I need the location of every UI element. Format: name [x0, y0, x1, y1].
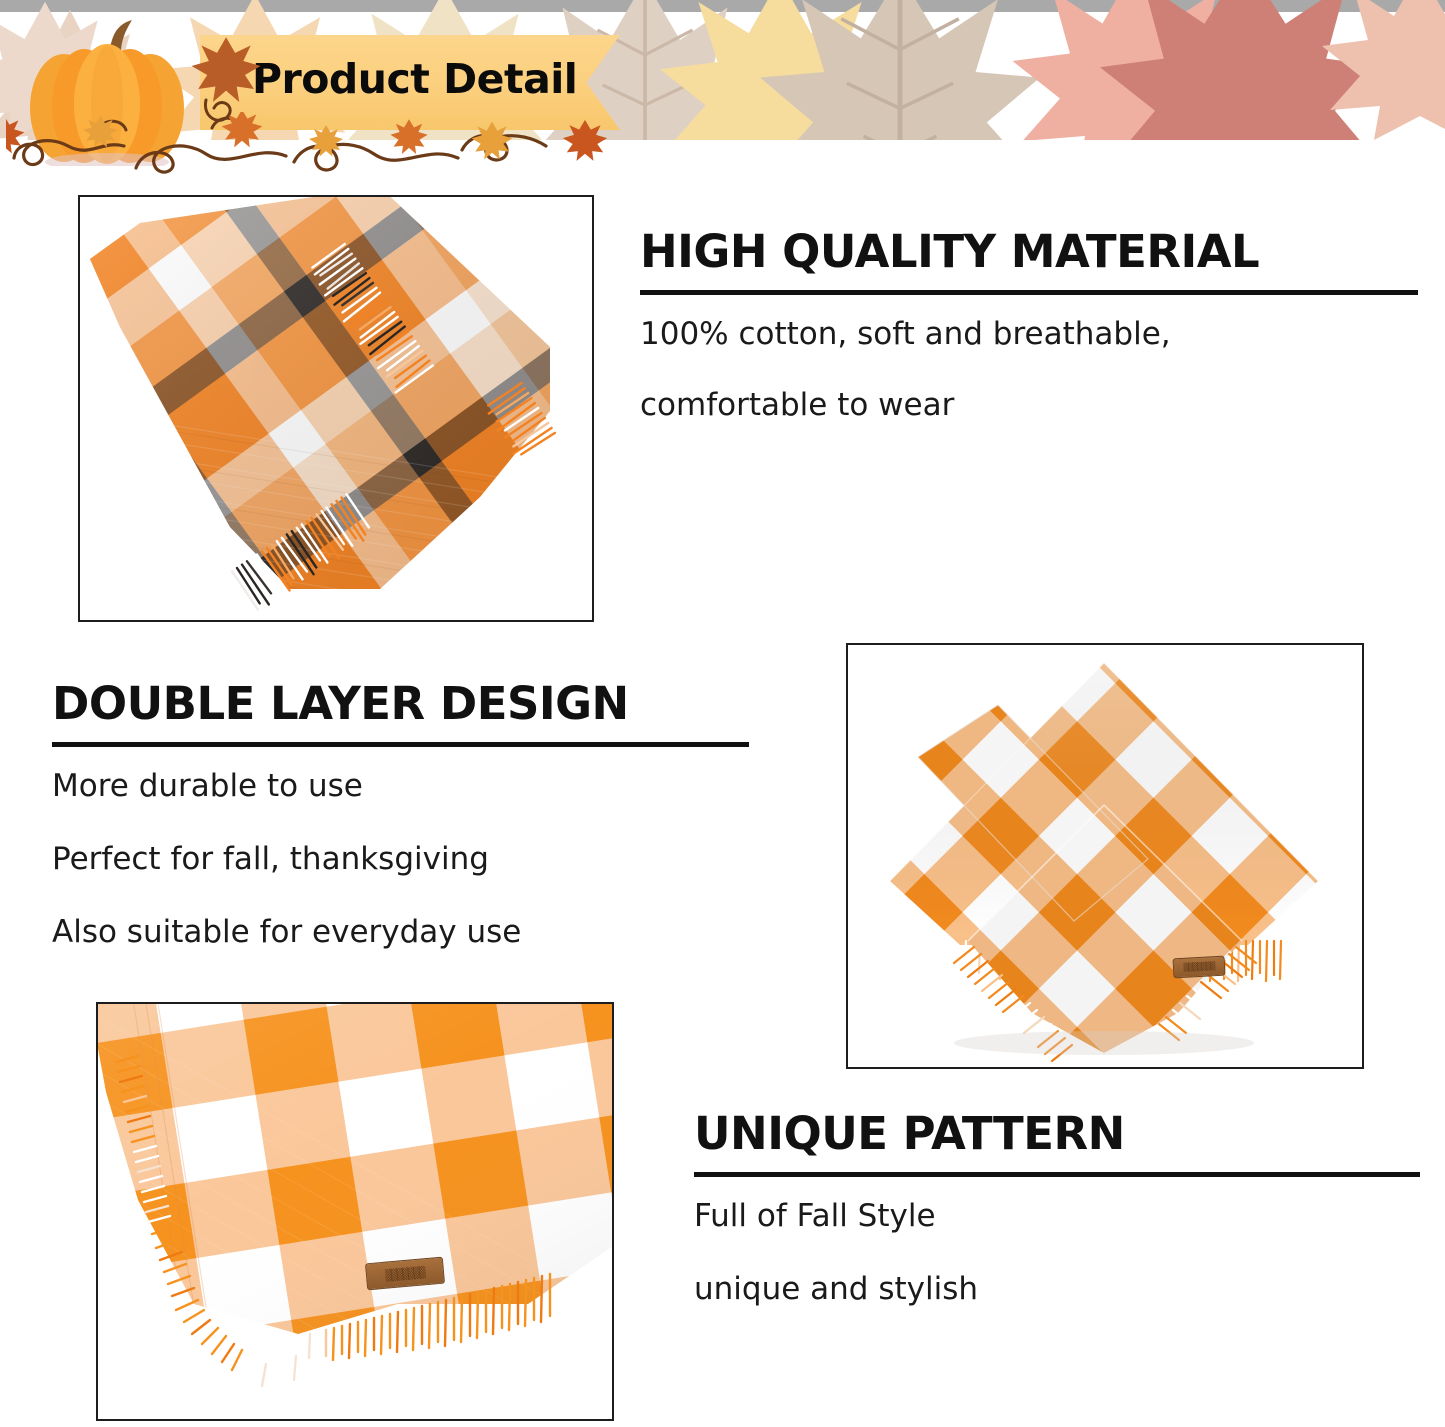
feature-line: More durable to use [52, 771, 752, 802]
photo-image [98, 1004, 612, 1419]
feature-title-double-layer: DOUBLE LAYER DESIGN [52, 680, 752, 728]
feature-line: Perfect for fall, thanksgiving [52, 844, 752, 875]
feature-line: unique and stylish [694, 1274, 1422, 1305]
feature-divider [694, 1172, 1420, 1177]
feature-title-unique-pattern: UNIQUE PATTERN [694, 1110, 1422, 1158]
feature-line: Also suitable for everyday use [52, 917, 752, 948]
feature-lines-unique-pattern: Full of Fall Style unique and stylish [694, 1201, 1422, 1305]
feature-line: 100% cotton, soft and breathable, [640, 319, 1422, 350]
feature-divider [52, 742, 749, 747]
feature-divider [640, 290, 1418, 295]
feature-lines-double-layer: More durable to use Perfect for fall, th… [52, 771, 752, 948]
vine-swirl-icon [186, 30, 316, 140]
maple-leaf-icon [1320, 0, 1445, 160]
feature-title-material: HIGH QUALITY MATERIAL [640, 228, 1422, 276]
plaid-fringe-closeup-photo [78, 195, 594, 622]
vine-swirl-icon [6, 112, 626, 184]
feature-lines-material: 100% cotton, soft and breathable, comfor… [640, 319, 1422, 421]
flat-plaid-corner-photo: ▒▒▒▒▒▒▒ [96, 1002, 614, 1421]
leather-brand-label-text: ▒▒▒▒▒▒▒ [367, 1264, 444, 1284]
leather-brand-label: ▒▒▒▒▒▒▒ [1173, 956, 1226, 979]
photo-image [848, 645, 1362, 1067]
feature-line: Full of Fall Style [694, 1201, 1422, 1232]
feature-block-double-layer: DOUBLE LAYER DESIGN More durable to use … [52, 680, 752, 948]
leather-brand-label-text: ▒▒▒▒▒▒▒ [1174, 961, 1224, 974]
photo-image [80, 197, 592, 620]
feature-block-unique-pattern: UNIQUE PATTERN Full of Fall Style unique… [694, 1110, 1422, 1305]
page-header: Product Detail [0, 0, 1445, 186]
feature-line: comfortable to wear [640, 390, 1422, 421]
folded-bandana-photo: ▒▒▒▒▒▒▒ [846, 643, 1364, 1069]
feature-block-material: HIGH QUALITY MATERIAL 100% cotton, soft … [640, 228, 1422, 421]
